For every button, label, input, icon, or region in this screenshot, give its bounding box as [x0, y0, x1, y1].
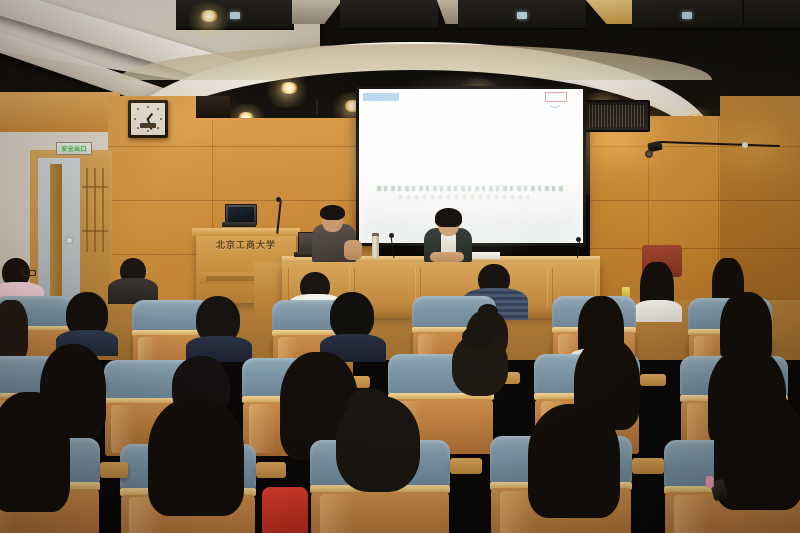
clock-brand-plate [140, 123, 156, 128]
wall-seam [590, 200, 800, 201]
door-mullion [94, 168, 96, 252]
lecture-hall-photo: 安全出口 [0, 0, 800, 533]
downlight [280, 82, 298, 94]
wall-clock [128, 100, 168, 138]
clock-mark [157, 108, 159, 110]
door-mullion [82, 230, 108, 232]
door-mullion [86, 168, 88, 252]
wall-seam [108, 146, 372, 147]
seat-armrest [632, 458, 664, 474]
audience-hair-long [0, 300, 28, 362]
clock-mark [157, 127, 159, 129]
wall-seam [108, 200, 372, 201]
camera-lens [645, 150, 653, 158]
slide-blue-tab [363, 93, 399, 101]
laptop-screen [228, 207, 254, 222]
table-microphone-head [576, 237, 581, 242]
laptop-base [222, 222, 256, 227]
seat-armrest [450, 458, 482, 474]
slide-text-line [399, 195, 529, 199]
ceiling-speaker-panel [744, 0, 800, 30]
audience-hair-long [148, 398, 244, 516]
presenter-left-arm [344, 240, 362, 260]
lectern-top [192, 228, 300, 236]
speaker-grille [589, 105, 645, 127]
audience-hair-bun [462, 326, 492, 348]
seat-back [311, 492, 448, 533]
name-card [470, 252, 500, 259]
clock-mark [137, 108, 139, 110]
audience-shoulders [634, 300, 682, 322]
ceiling-speaker-panel [340, 0, 438, 30]
wall-left-wood-header [0, 92, 120, 132]
presenter-left-hair [320, 205, 345, 220]
eyeglasses [22, 270, 36, 276]
exit-door-leaf[interactable] [50, 164, 62, 314]
wall-seam [590, 248, 800, 249]
wall-speaker-box [584, 100, 650, 132]
panel-led [517, 12, 527, 19]
clock-mark [160, 118, 162, 120]
door-mullion [102, 168, 104, 252]
audience-hair-bun [348, 388, 390, 422]
clock-mark [137, 127, 139, 129]
slide-curve-mark [549, 102, 561, 108]
audience-hair-long [0, 392, 70, 512]
ceiling-stem [316, 100, 318, 114]
lectern-plaque-text: 北京工商大学 [216, 238, 276, 251]
clock-mark [134, 118, 136, 120]
table-microphone-head [389, 233, 394, 238]
audience-hair-long [528, 404, 620, 518]
projection-screen [356, 86, 586, 246]
red-backpack[interactable] [262, 487, 308, 533]
seat-armrest [100, 462, 128, 478]
slide-red-tab [545, 92, 567, 102]
ceiling-speaker-panel [632, 0, 742, 30]
clock-face [131, 103, 165, 135]
audience-head [330, 292, 374, 340]
exit-sign-label: 安全出口 [61, 144, 87, 153]
clock-mark [147, 106, 149, 108]
seat-armrest [640, 374, 666, 386]
slide-text-line [377, 186, 565, 191]
projection-screen-surface [359, 89, 583, 243]
lectern-plaque: 北京工商大学 [204, 236, 288, 252]
presenter-right-hands [430, 252, 464, 262]
emergency-exit-sign: 安全出口 [56, 142, 92, 155]
door-mullion [82, 186, 108, 188]
panel-led [682, 12, 692, 19]
ceiling-speaker-panel [458, 0, 586, 30]
presenter-right-hair [435, 208, 462, 227]
cable-clip [742, 142, 748, 148]
clock-mark [147, 130, 149, 132]
seat-sheen [674, 495, 710, 533]
downlight [200, 10, 218, 22]
lectern-microphone-head [276, 197, 281, 202]
audience-hair-bun [478, 304, 498, 319]
wall-frame-dark [196, 96, 230, 118]
water-bottle[interactable] [372, 236, 379, 258]
seat-armrest [256, 462, 286, 478]
seat-sheen [320, 494, 356, 533]
door-handle[interactable] [67, 238, 72, 243]
